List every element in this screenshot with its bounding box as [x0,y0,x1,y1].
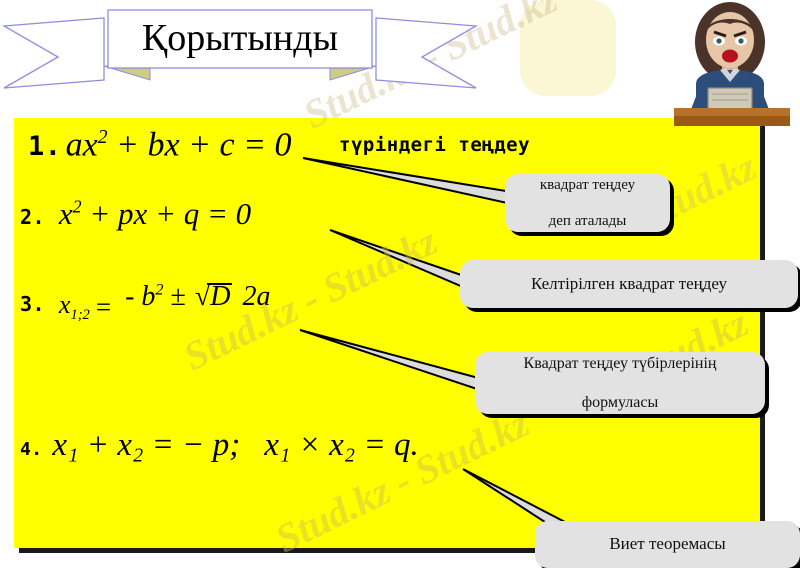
formula-number-4: 4. [20,439,42,460]
formula-label-1: түріндегі теңдеу [339,134,530,156]
banner-left-tail [4,18,104,88]
callout-quadratic-equation: квадрат теңдеудеп аталады [505,174,670,232]
formula-3-equals: = [96,292,111,323]
formula-body-4-left: x₁ + x₂ = − p; [52,427,240,464]
formula-number-3: 3. [20,292,45,316]
callout-text: Келтірілген квадрат теңдеу [519,274,739,295]
mouth-icon [722,50,738,63]
formula-body-4-right: x₁ × x₂ = q. [264,427,419,464]
fraction-denominator: 2a [243,279,271,312]
page-title: Қорытынды [108,9,372,67]
formula-row-1: 1. ax2 + bx + c = 0 [28,126,292,164]
callout-vieta-theorem: Виет теоремасы [535,521,800,568]
callout-roots-formula: Квадрат теңдеу түбірлерініңформуласы [475,352,765,414]
square-root-icon: √D [193,281,231,313]
callout-reduced-quadratic: Келтірілген квадрат теңдеу [460,260,798,308]
teacher-illustration [660,0,800,130]
fraction-numerator: - b2 ± √D [117,281,238,313]
formula-3-variable: x1;2 [59,290,90,324]
desk [674,115,790,126]
leader-line-2 [330,230,470,290]
callout-text: Виет теоремасы [597,534,737,555]
formula-row-2: 2. x2 + px + q = 0 [20,196,251,232]
leader-line-3 [300,330,486,392]
callout-text: квадрат теңдеудеп аталады [516,176,659,231]
formula-row-3: 3. x1;2 = - b2 ± √D 2a [20,270,271,324]
formula-body-3: x1;2 = - b2 ± √D 2a [59,270,271,324]
formula-number-2: 2. [20,205,45,229]
formula-body-2: x2 + px + q = 0 [59,196,251,232]
formula-number-1: 1. [28,131,62,162]
fraction: - b2 ± √D 2a [117,281,270,313]
formula-row-4: 4. x₁ + x₂ = − p; x₁ × x₂ = q. [20,427,419,464]
title-banner: Қорытынды [0,4,480,92]
leader-line-1 [303,158,512,204]
banner-right-tail [376,18,476,88]
formula-body-1: ax2 + bx + c = 0 [66,126,292,164]
callout-text: Квадрат теңдеу түбірлерініңформуласы [500,354,741,413]
slide-canvas: Қорытынды [0,0,800,568]
